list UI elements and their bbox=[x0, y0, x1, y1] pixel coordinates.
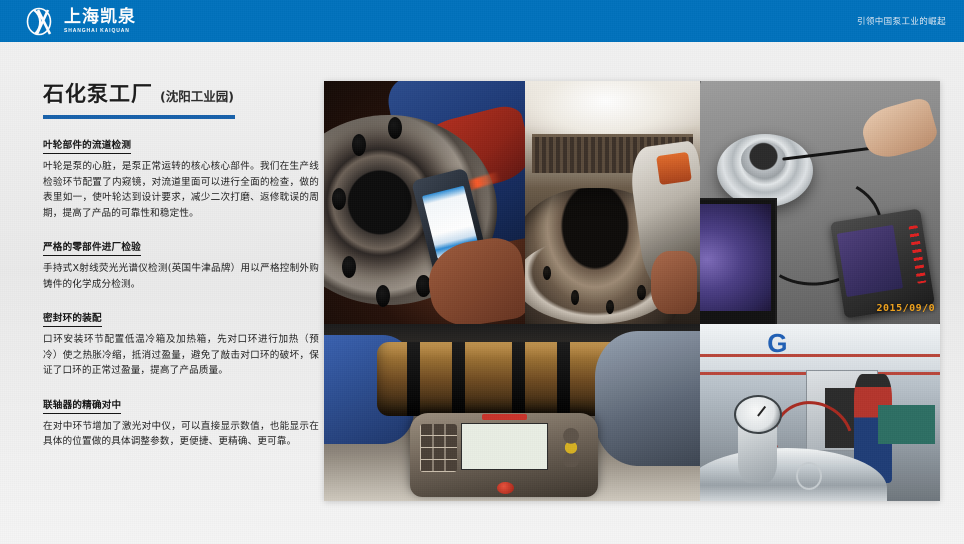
kaiquan-logo-icon bbox=[26, 7, 57, 36]
section-heading: 严格的零部件进厂检验 bbox=[43, 242, 141, 256]
workshop-ceiling-shape bbox=[700, 324, 940, 370]
section-body: 手持式X射线荧光光谱仪检测(英国牛津品牌）用以严格控制外购铸件的化学成分检测。 bbox=[43, 261, 319, 292]
green-partition-shape bbox=[878, 405, 936, 444]
tool-display-screen bbox=[461, 423, 547, 471]
slide-root: 上海凯泉 SHANGHAI KAIQUAN 引领中国泵工业的崛起 石化泵工厂 (… bbox=[0, 0, 964, 544]
page-header: 上海凯泉 SHANGHAI KAIQUAN 引领中国泵工业的崛起 bbox=[0, 0, 964, 42]
laser-alignment-tool-shape bbox=[410, 413, 598, 498]
shaft-coupling-laser-alignment-photo bbox=[324, 324, 700, 501]
monitor-screen-shape bbox=[837, 224, 903, 296]
section-heading: 联轴器的精确对中 bbox=[43, 400, 121, 414]
brand-logo-text: 上海凯泉 SHANGHAI KAIQUAN bbox=[64, 9, 136, 34]
tool-power-button bbox=[497, 482, 514, 494]
page-title-main: 石化泵工厂 bbox=[43, 78, 153, 108]
title-underline-rule bbox=[43, 115, 235, 119]
tool-navigation-buttons bbox=[555, 428, 587, 467]
brand-logo[interactable]: 上海凯泉 SHANGHAI KAIQUAN bbox=[26, 6, 136, 37]
monitor-button-leds bbox=[908, 224, 926, 283]
xrf-analyzer-accent-shape bbox=[656, 152, 691, 185]
section-body: 叶轮是泵的心脏，是泵正常运转的核心核心部件。我们在生产线检验环节配置了内窥镜，对… bbox=[43, 159, 319, 221]
page-title-sub: (沈阳工业园) bbox=[160, 86, 234, 105]
pressure-gauge-shape bbox=[734, 395, 782, 434]
brand-name-cn: 上海凯泉 bbox=[64, 9, 136, 26]
section-heading: 密封环的装配 bbox=[43, 313, 102, 327]
endoscope-monitor-shape bbox=[830, 208, 935, 318]
section-impeller-flow-inspection: 叶轮部件的流道检测 叶轮是泵的心脏，是泵正常运转的核心核心部件。我们在生产线检验… bbox=[43, 133, 319, 221]
workshop-pressure-tank-photo: G bbox=[700, 324, 940, 501]
page-title: 石化泵工厂 (沈阳工业园) bbox=[43, 78, 319, 108]
section-coupling-alignment: 联轴器的精确对中 在对中环节增加了激光对中仪，可以直接显示数值，也能显示在具体的… bbox=[43, 393, 319, 450]
section-heading: 叶轮部件的流道检测 bbox=[43, 140, 131, 154]
content-left-column: 石化泵工厂 (沈阳工业园) 叶轮部件的流道检测 叶轮是泵的心脏，是泵正常运转的核… bbox=[43, 78, 319, 450]
flange-handheld-inspection-photo bbox=[324, 81, 525, 324]
tool-brand-strip bbox=[482, 414, 527, 420]
operator-hand-shape bbox=[651, 251, 697, 314]
impeller-endoscope-inspection-photo: 2015/09/0 bbox=[700, 81, 940, 324]
header-slogan: 引领中国泵工业的崛起 bbox=[857, 0, 946, 42]
endoscope-view-screen bbox=[700, 204, 771, 311]
section-body: 在对中环节增加了激光对中仪，可以直接显示数值，也能显示在具体的位置做的具体调整参… bbox=[43, 419, 319, 450]
brand-name-en: SHANGHAI KAIQUAN bbox=[64, 29, 136, 34]
tool-keypad-shape bbox=[420, 424, 458, 472]
section-body: 口环安装环节配置低温冷箱及加热箱，先对口环进行加热（预冷）使之热胀冷缩，抵消过盈… bbox=[43, 332, 319, 379]
section-seal-ring-assembly: 密封环的装配 口环安装环节配置低温冷箱及加热箱，先对口环进行加热（预冷）使之热胀… bbox=[43, 306, 319, 379]
photo-grid: 2015/09/0 bbox=[324, 81, 940, 501]
section-incoming-part-inspection: 严格的零部件进厂检验 手持式X射线荧光光谱仪检测(英国牛津品牌）用以严格控制外购… bbox=[43, 235, 319, 292]
workshop-bay-sign: G bbox=[767, 328, 787, 359]
photo-timestamp: 2015/09/0 bbox=[877, 303, 936, 314]
pump-body-shape bbox=[595, 331, 700, 466]
pump-casing-xrf-analyzer-photo bbox=[525, 81, 700, 324]
endoscope-view-inset bbox=[700, 198, 777, 324]
